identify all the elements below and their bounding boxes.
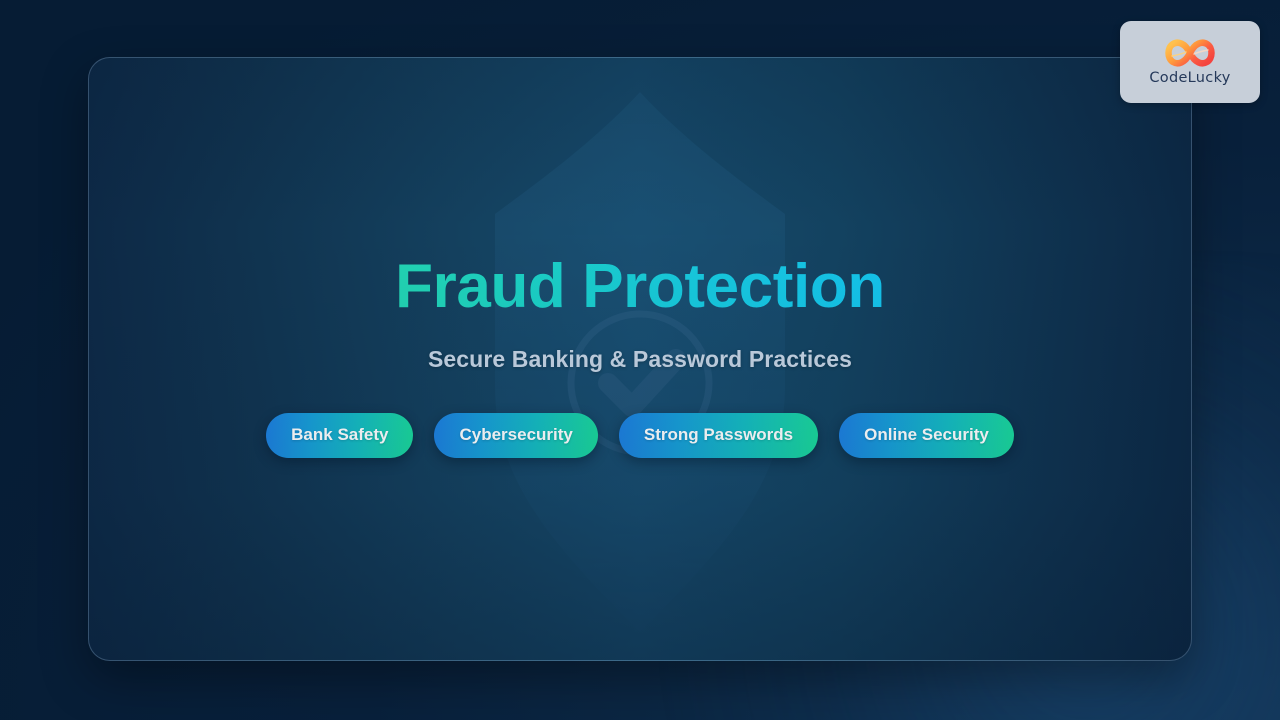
tag-pill-bank-safety[interactable]: Bank Safety bbox=[266, 413, 413, 458]
tag-pill-online-security[interactable]: Online Security bbox=[839, 413, 1014, 458]
page-subtitle: Secure Banking & Password Practices bbox=[428, 346, 852, 373]
hero-card: Fraud Protection Secure Banking & Passwo… bbox=[88, 57, 1192, 661]
infinity-leaf-logo bbox=[1161, 38, 1219, 68]
hero-content: Fraud Protection Secure Banking & Passwo… bbox=[89, 58, 1191, 660]
tag-pill-strong-passwords[interactable]: Strong Passwords bbox=[619, 413, 818, 458]
tag-row: Bank Safety Cybersecurity Strong Passwor… bbox=[266, 413, 1014, 458]
page-title: Fraud Protection bbox=[395, 254, 885, 319]
brand-name: CodeLucky bbox=[1149, 70, 1230, 86]
brand-badge[interactable]: CodeLucky bbox=[1120, 21, 1260, 103]
tag-pill-cybersecurity[interactable]: Cybersecurity bbox=[434, 413, 597, 458]
